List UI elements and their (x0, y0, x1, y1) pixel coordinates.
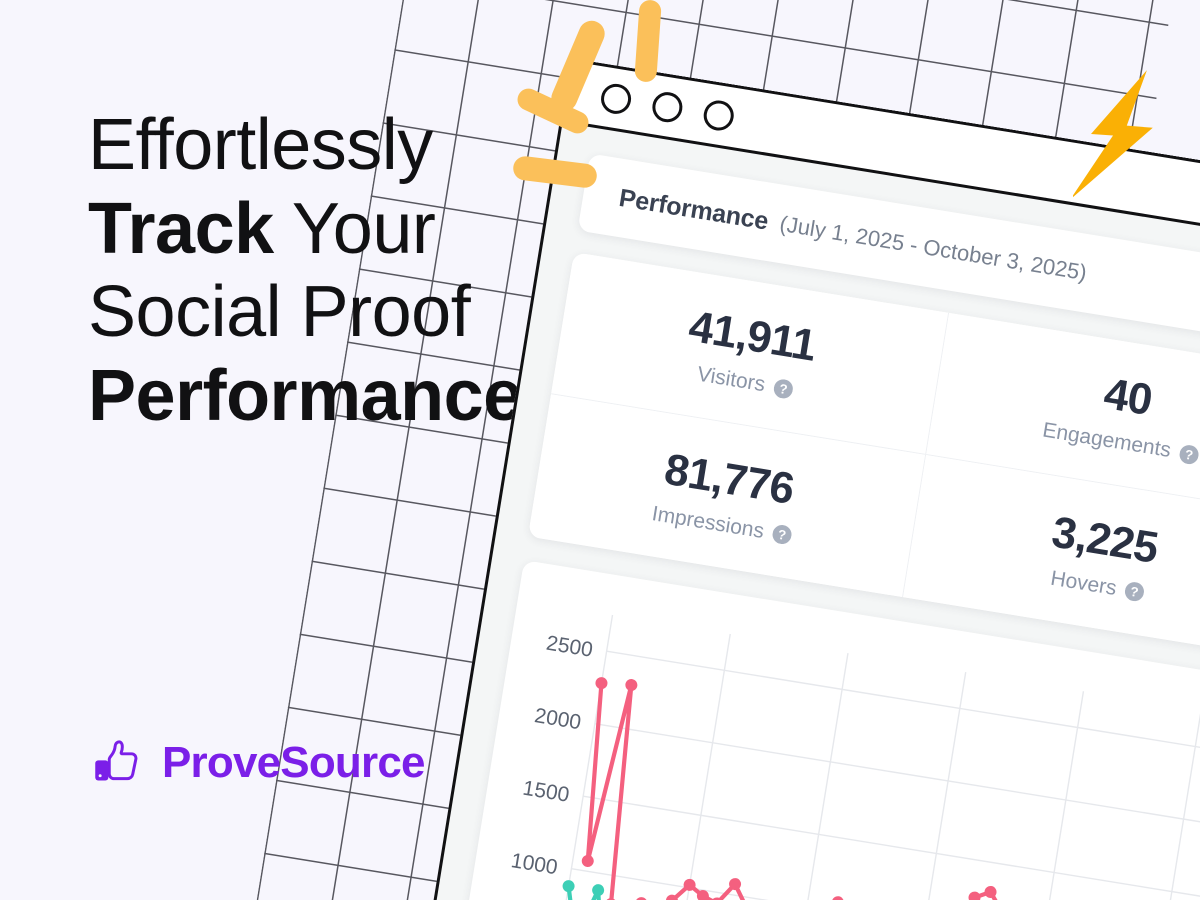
svg-text:2500: 2500 (545, 632, 595, 662)
headline-line-1: Effortlessly (88, 104, 558, 188)
headline-line-3: Social Proof (88, 271, 558, 355)
thumbs-up-icon (90, 735, 146, 791)
stat-value-engagements: 40 (1101, 369, 1156, 426)
stat-label-row-visitors: Visitors ? (695, 363, 794, 402)
maximize-dot-icon[interactable] (702, 98, 736, 132)
stat-value-impressions: 81,776 (661, 444, 797, 514)
svg-text:2000: 2000 (533, 704, 583, 734)
help-icon[interactable]: ? (1178, 443, 1200, 465)
poster-canvas: Effortlessly Track Your Social Proof Per… (0, 0, 1200, 900)
help-icon[interactable]: ? (1124, 581, 1146, 603)
stat-label-engagements: Engagements (1041, 419, 1173, 463)
help-icon[interactable]: ? (772, 377, 794, 399)
page-title: Effortlessly Track Your Social Proof Per… (88, 104, 558, 438)
minimize-dot-icon[interactable] (650, 90, 684, 124)
provesource-logo: ProveSource (90, 735, 425, 791)
stat-label-row-engagements: Engagements ? (1041, 419, 1200, 468)
headline-emphasis-performance: Performance (88, 355, 558, 439)
logo-wordmark: ProveSource (162, 738, 425, 788)
svg-text:1500: 1500 (521, 777, 571, 807)
performance-date-range: (July 1, 2025 - October 3, 2025) (778, 211, 1089, 286)
headline-line-2: Track Your (88, 188, 558, 272)
lightning-bolt-icon (1073, 66, 1159, 206)
performance-line-chart[interactable]: 5001000150020002500 (469, 589, 1200, 900)
close-dot-icon[interactable] (599, 81, 633, 115)
performance-title: Performance (617, 183, 770, 236)
stat-label-row-hovers: Hovers ? (1049, 566, 1146, 605)
svg-text:1000: 1000 (509, 849, 559, 879)
help-icon[interactable]: ? (771, 524, 793, 546)
headline-emphasis-track: Track (88, 189, 274, 269)
stat-value-visitors: 41,911 (685, 302, 819, 372)
stat-value-hovers: 3,225 (1048, 507, 1161, 573)
stat-label-visitors: Visitors (695, 363, 766, 398)
stat-label-hovers: Hovers (1049, 566, 1119, 600)
headline-line-2-rest: Your (274, 189, 436, 269)
